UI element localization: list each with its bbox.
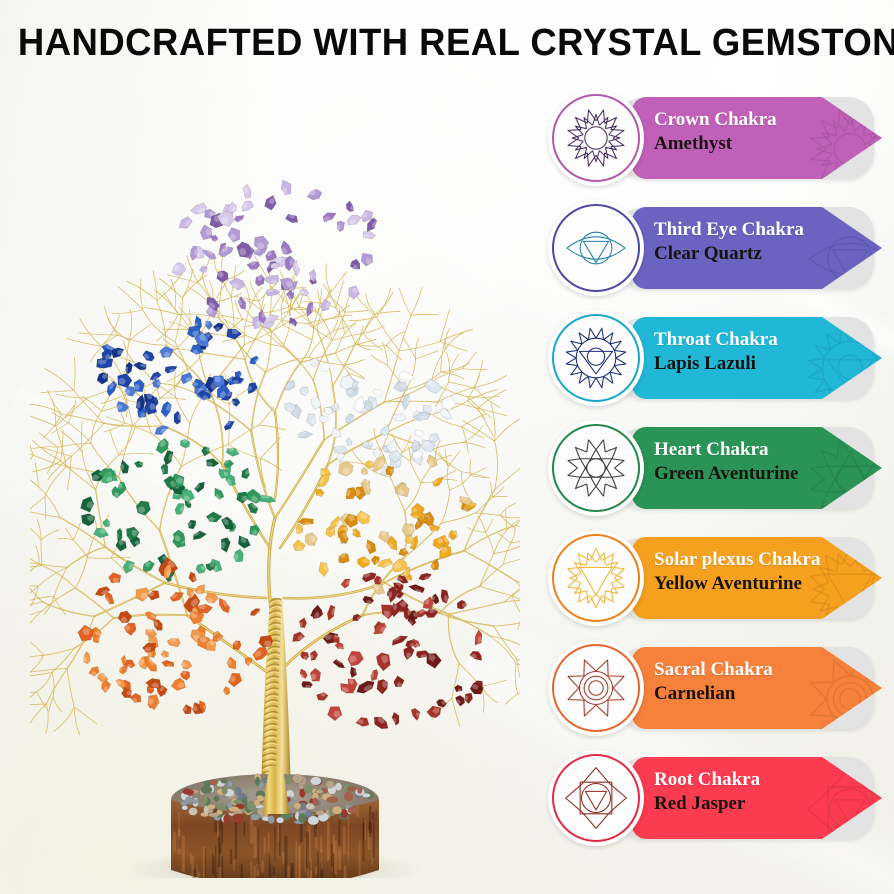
- tree-illustration: [30, 78, 520, 878]
- chakra-stone: Carnelian: [654, 682, 830, 706]
- chakra-title: Solar plexus Chakra: [654, 548, 830, 572]
- third-eye-chakra-eye-icon: [563, 215, 629, 281]
- chakra-banner-text: Throat Chakra Lapis Lazuli: [654, 328, 830, 377]
- chakra-card-list: Crown Chakra Amethyst Third Eye Chakra C…: [548, 90, 888, 860]
- chakra-title: Sacral Chakra: [654, 658, 830, 682]
- chakra-badge[interactable]: [548, 310, 644, 406]
- chakra-badge[interactable]: [548, 200, 644, 296]
- heart-chakra-hexagram-icon: [563, 435, 629, 501]
- chakra-badge[interactable]: [548, 750, 644, 846]
- chakra-title: Root Chakra: [654, 768, 830, 792]
- root-chakra-square-icon: [563, 765, 629, 831]
- chakra-card[interactable]: Third Eye Chakra Clear Quartz: [548, 200, 888, 296]
- chakra-stone: Green Aventurine: [654, 462, 830, 486]
- chakra-card[interactable]: Throat Chakra Lapis Lazuli: [548, 310, 888, 406]
- chakra-badge[interactable]: [548, 640, 644, 736]
- chakra-title: Crown Chakra: [654, 108, 830, 132]
- chakra-card[interactable]: Solar plexus Chakra Yellow Aventurine: [548, 530, 888, 626]
- infographic-canvas: HANDCRAFTED WITH REAL CRYSTAL GEMSTONE: [0, 0, 894, 894]
- chakra-title: Throat Chakra: [654, 328, 830, 352]
- sacral-chakra-lotus-icon: [563, 655, 629, 721]
- chakra-banner-text: Sacral Chakra Carnelian: [654, 658, 830, 707]
- chakra-card[interactable]: Sacral Chakra Carnelian: [548, 640, 888, 736]
- chakra-banner-text: Solar plexus Chakra Yellow Aventurine: [654, 548, 830, 597]
- chakra-stone: Amethyst: [654, 132, 830, 156]
- chakra-stone: Lapis Lazuli: [654, 352, 830, 376]
- chakra-badge[interactable]: [548, 420, 644, 516]
- chakra-stone: Red Jasper: [654, 792, 830, 816]
- chakra-title: Third Eye Chakra: [654, 218, 830, 242]
- chakra-card[interactable]: Crown Chakra Amethyst: [548, 90, 888, 186]
- chakra-stone: Yellow Aventurine: [654, 572, 830, 596]
- chakra-banner-text: Crown Chakra Amethyst: [654, 108, 830, 157]
- chakra-card[interactable]: Heart Chakra Green Aventurine: [548, 420, 888, 516]
- chakra-card[interactable]: Root Chakra Red Jasper: [548, 750, 888, 846]
- page-title: HANDCRAFTED WITH REAL CRYSTAL GEMSTONE: [18, 22, 876, 65]
- chakra-stone: Clear Quartz: [654, 242, 830, 266]
- crystal-gemstone-tree-image: [30, 78, 520, 878]
- chakra-banner-text: Root Chakra Red Jasper: [654, 768, 830, 817]
- chakra-title: Heart Chakra: [654, 438, 830, 462]
- chakra-badge[interactable]: [548, 90, 644, 186]
- chakra-badge[interactable]: [548, 530, 644, 626]
- chakra-banner-text: Heart Chakra Green Aventurine: [654, 438, 830, 487]
- solar-plexus-chakra-triangle-icon: [563, 545, 629, 611]
- chakra-banner-text: Third Eye Chakra Clear Quartz: [654, 218, 830, 267]
- throat-chakra-sun-icon: [563, 325, 629, 391]
- crown-chakra-lotus-icon: [563, 105, 629, 171]
